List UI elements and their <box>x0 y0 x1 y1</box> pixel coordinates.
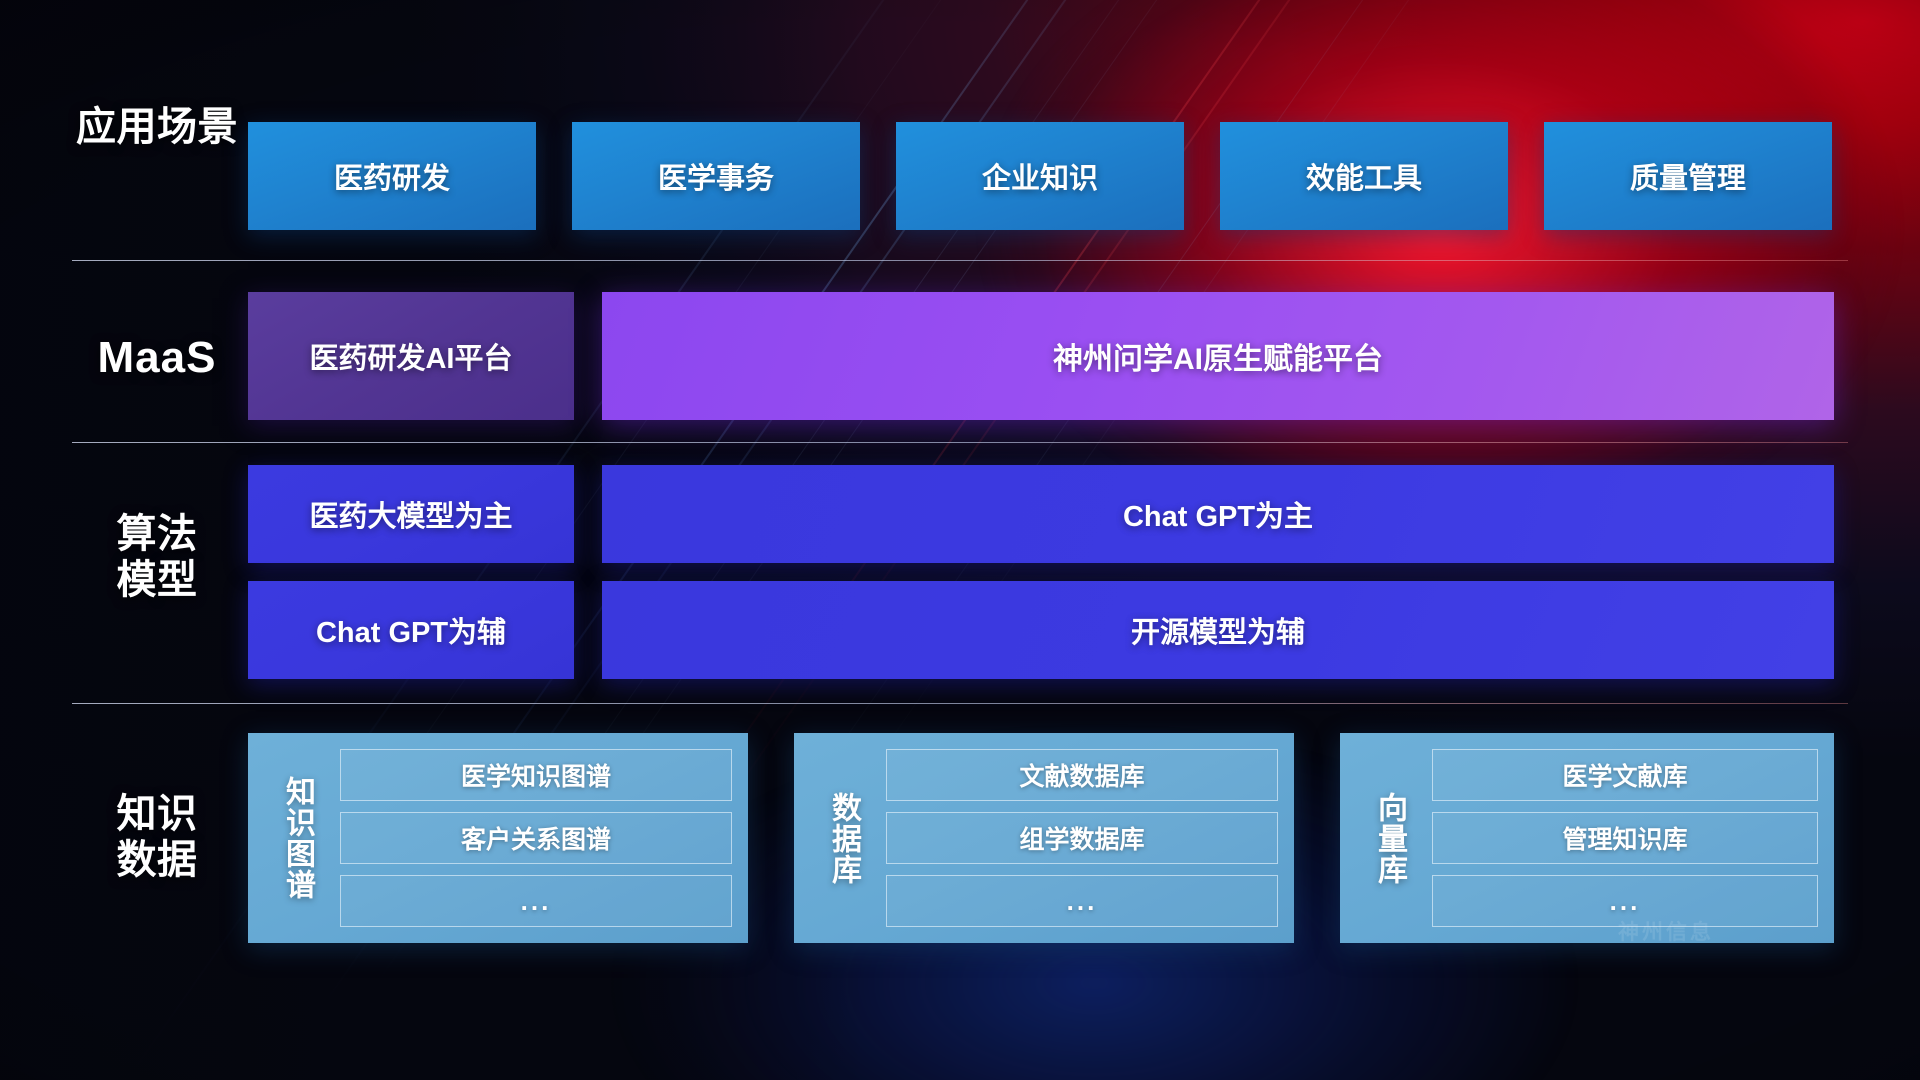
knowledge-item-literature-database[interactable]: 文献数据库 <box>886 749 1278 801</box>
scene-box-4-label: 效能工具 <box>1306 155 1422 197</box>
knowledge-panel-2-items: 文献数据库 组学数据库 ... <box>872 749 1278 927</box>
algo-box-pharma-primary[interactable]: 医药大模型为主 <box>248 465 574 563</box>
algo-box-chatgpt-secondary[interactable]: Chat GPT为辅 <box>248 581 574 679</box>
knowledge-panel-3-items: 医学文献库 管理知识库 ... <box>1418 749 1818 927</box>
knowledge-panel-1-items: 医学知识图谱 客户关系图谱 ... <box>326 749 732 927</box>
knowledge-item-management-knowledge-store[interactable]: 管理知识库 <box>1432 812 1818 864</box>
algo-box-opensource-secondary[interactable]: 开源模型为辅 <box>602 581 1834 679</box>
tier-label-algorithm-models: 算法 模型 <box>72 512 242 603</box>
scene-box-5[interactable]: 质量管理 <box>1544 122 1832 230</box>
tier-label-algo-line1: 算法 <box>72 512 242 558</box>
divider-2 <box>72 442 1848 443</box>
divider-1 <box>72 260 1848 261</box>
algo-box-opensource-secondary-label: 开源模型为辅 <box>1131 609 1305 651</box>
scene-box-2-label: 医学事务 <box>658 155 774 197</box>
scene-box-5-label: 质量管理 <box>1630 155 1746 197</box>
scene-box-1-label: 医药研发 <box>334 155 450 197</box>
knowledge-item-omics-database[interactable]: 组学数据库 <box>886 812 1278 864</box>
knowledge-item-medical-literature-store[interactable]: 医学文献库 <box>1432 749 1818 801</box>
knowledge-item-customer-relation-graph[interactable]: 客户关系图谱 <box>340 812 732 864</box>
knowledge-panel-2-vlabel: 数据库 <box>814 792 872 885</box>
knowledge-panel-knowledge-graph[interactable]: 知识图谱 医学知识图谱 客户关系图谱 ... <box>248 733 748 943</box>
knowledge-panel-database[interactable]: 数据库 文献数据库 组学数据库 ... <box>794 733 1294 943</box>
scene-box-3[interactable]: 企业知识 <box>896 122 1184 230</box>
tier-label-maas: MaaS <box>72 333 242 383</box>
maas-box-pharma-platform-label: 医药研发AI平台 <box>309 335 512 377</box>
tier-label-application-scenarios: 应用场景 <box>72 105 242 151</box>
knowledge-item-more-2[interactable]: ... <box>886 875 1278 927</box>
tier-label-algo-line2: 模型 <box>72 558 242 604</box>
knowledge-panel-vector-store[interactable]: 向量库 医学文献库 管理知识库 ... <box>1340 733 1834 943</box>
algo-box-pharma-primary-label: 医药大模型为主 <box>309 493 512 535</box>
tier-label-maas-text: MaaS <box>72 333 242 383</box>
scene-box-2[interactable]: 医学事务 <box>572 122 860 230</box>
knowledge-panel-3-vlabel: 向量库 <box>1360 792 1418 885</box>
tier-label-kd-line2: 数据 <box>72 838 242 884</box>
scene-box-3-label: 企业知识 <box>982 155 1098 197</box>
architecture-diagram: 应用场景 医药研发 医学事务 企业知识 效能工具 质量管理 MaaS 医药研发A… <box>0 0 1920 1080</box>
scene-box-1[interactable]: 医药研发 <box>248 122 536 230</box>
algo-box-chatgpt-primary-label: Chat GPT为主 <box>1123 493 1313 535</box>
algo-box-chatgpt-primary[interactable]: Chat GPT为主 <box>602 465 1834 563</box>
tier-label-knowledge-data: 知识 数据 <box>72 792 242 883</box>
knowledge-item-more-3[interactable]: ... <box>1432 875 1818 927</box>
tier-label-kd-line1: 知识 <box>72 792 242 838</box>
scene-box-4[interactable]: 效能工具 <box>1220 122 1508 230</box>
tier-label-line1: 应用场景 <box>72 105 242 151</box>
knowledge-item-more-1[interactable]: ... <box>340 875 732 927</box>
maas-box-shenzhou-platform-label: 神州问学AI原生赋能平台 <box>1053 334 1383 378</box>
maas-box-pharma-platform[interactable]: 医药研发AI平台 <box>248 292 574 420</box>
knowledge-item-medical-knowledge-graph[interactable]: 医学知识图谱 <box>340 749 732 801</box>
knowledge-panel-1-vlabel: 知识图谱 <box>268 776 326 900</box>
maas-box-shenzhou-platform[interactable]: 神州问学AI原生赋能平台 <box>602 292 1834 420</box>
divider-3 <box>72 703 1848 704</box>
algo-box-chatgpt-secondary-label: Chat GPT为辅 <box>316 609 506 651</box>
